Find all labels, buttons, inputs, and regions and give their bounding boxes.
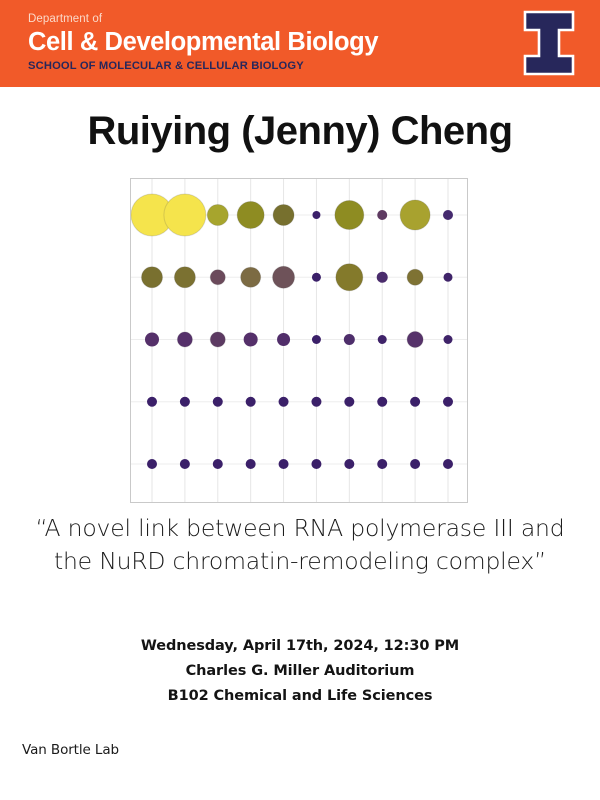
banner-divider <box>0 84 600 87</box>
dot-plot-point <box>444 335 453 344</box>
dot-plot-point <box>344 334 355 345</box>
dot-plot-point <box>344 459 354 469</box>
event-room: B102 Chemical and Life Sciences <box>0 684 600 709</box>
dot-plot-point <box>273 205 294 226</box>
dot-plot-point <box>378 335 387 344</box>
dot-plot-point <box>410 459 420 469</box>
dot-plot-point <box>443 210 453 220</box>
dot-plot-point <box>273 266 295 288</box>
dot-plot-point <box>174 267 195 288</box>
dot-plot-point <box>244 333 258 347</box>
event-details: Wednesday, April 17th, 2024, 12:30 PM Ch… <box>0 634 600 709</box>
event-datetime: Wednesday, April 17th, 2024, 12:30 PM <box>0 634 600 659</box>
talk-title: “A novel link between RNA polymerase III… <box>22 512 578 578</box>
dot-plot-point <box>377 459 387 469</box>
dot-plot-point <box>177 332 192 347</box>
department-name: Cell & Developmental Biology <box>28 27 378 57</box>
dot-plot-point <box>246 397 256 407</box>
dot-plot-point <box>312 211 320 219</box>
dot-plot-point <box>443 459 453 469</box>
dot-plot-point <box>311 397 321 407</box>
dot-plot-point <box>407 332 423 348</box>
dot-plot-point <box>147 459 157 469</box>
event-venue: Charles G. Miller Auditorium <box>0 659 600 684</box>
dot-plot-point <box>207 205 228 226</box>
dot-plot-point <box>210 270 225 285</box>
dot-plot-point <box>335 201 364 230</box>
dot-plot-point <box>344 397 354 407</box>
dot-plot-point <box>277 333 290 346</box>
dot-plot-point <box>147 397 157 407</box>
dot-plot-point <box>377 210 387 220</box>
dot-plot-point <box>311 459 321 469</box>
dot-plot-point <box>312 335 321 344</box>
dot-plot-point <box>210 332 225 347</box>
lab-name: Van Bortle Lab <box>22 742 119 758</box>
dot-plot-point <box>410 397 420 407</box>
dot-plot-point <box>142 267 163 288</box>
school-name: SCHOOL OF MOLECULAR & CELLULAR BIOLOGY <box>28 59 378 73</box>
banner-text-group: Department of Cell & Developmental Biolo… <box>28 12 378 73</box>
illinois-block-i-logo <box>521 9 577 77</box>
dot-plot-point <box>279 459 289 469</box>
dot-plot-point <box>145 333 159 347</box>
department-banner: Department of Cell & Developmental Biolo… <box>0 0 600 84</box>
dot-plot-point <box>443 397 453 407</box>
department-prefix: Department of <box>28 12 378 26</box>
dot-plot-point <box>213 459 223 469</box>
dot-plot-point <box>164 194 206 236</box>
dot-plot-point <box>336 264 363 291</box>
dot-plot-point <box>246 459 256 469</box>
dot-plot-point <box>241 267 261 287</box>
dot-plot-point <box>213 397 223 407</box>
dot-plot-point <box>444 273 453 282</box>
research-dot-plot-figure <box>130 178 468 503</box>
dot-plot-point <box>180 459 190 469</box>
dot-plot-point <box>279 397 289 407</box>
dot-plot-point <box>180 397 190 407</box>
dot-plot-point <box>237 202 264 229</box>
dot-plot-canvas <box>131 179 467 502</box>
dot-plot-point <box>312 273 321 282</box>
dot-plot-point <box>377 397 387 407</box>
speaker-name: Ruiying (Jenny) Cheng <box>0 108 600 154</box>
dot-plot-point <box>407 269 423 285</box>
dot-plot-point <box>400 200 430 230</box>
dot-plot-point <box>377 272 388 283</box>
